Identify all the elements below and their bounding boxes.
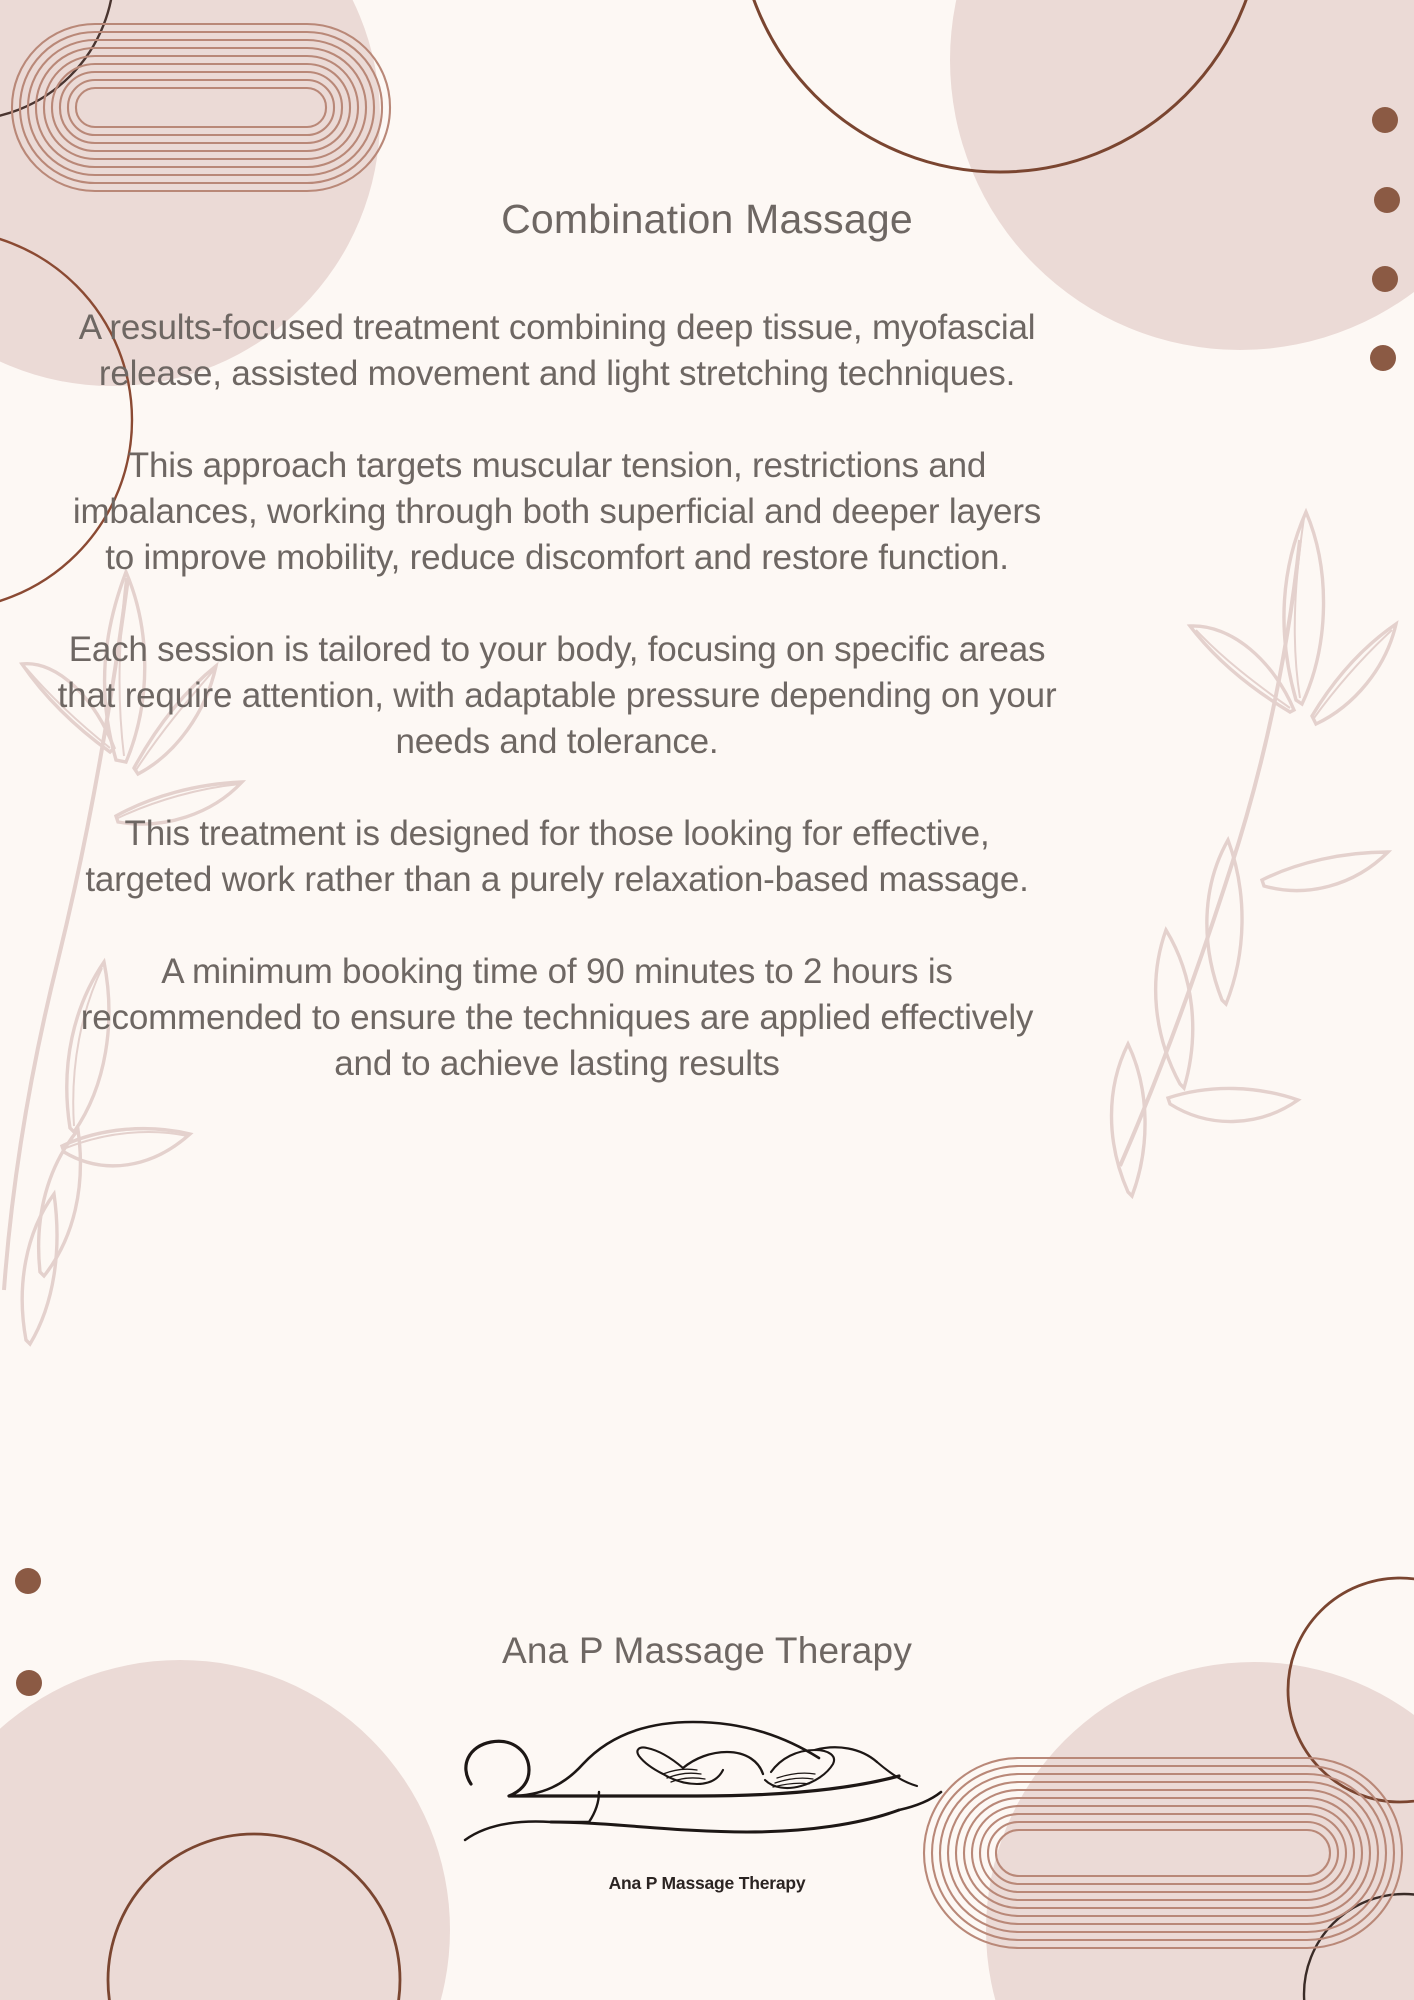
logo-block: Ana P Massage Therapy bbox=[447, 1692, 967, 1902]
paragraph-2: This approach targets muscular tension, … bbox=[57, 443, 1057, 581]
page-title: Combination Massage bbox=[0, 196, 1414, 243]
poster-canvas: Combination Massage A results-focused tr… bbox=[0, 0, 1414, 2000]
logo-caption: Ana P Massage Therapy bbox=[447, 1873, 967, 1894]
paragraph-1: A results-focused treatment combining de… bbox=[57, 305, 1057, 397]
body-copy: A results-focused treatment combining de… bbox=[57, 305, 1057, 1087]
paragraph-5: A minimum booking time of 90 minutes to … bbox=[57, 949, 1057, 1087]
paragraph-4: This treatment is designed for those loo… bbox=[57, 811, 1057, 903]
massage-line-art-logo-icon bbox=[447, 1692, 967, 1877]
brand-name: Ana P Massage Therapy bbox=[0, 1630, 1414, 1672]
paragraph-3: Each session is tailored to your body, f… bbox=[57, 627, 1057, 765]
content-layer: Combination Massage A results-focused tr… bbox=[0, 0, 1414, 2000]
